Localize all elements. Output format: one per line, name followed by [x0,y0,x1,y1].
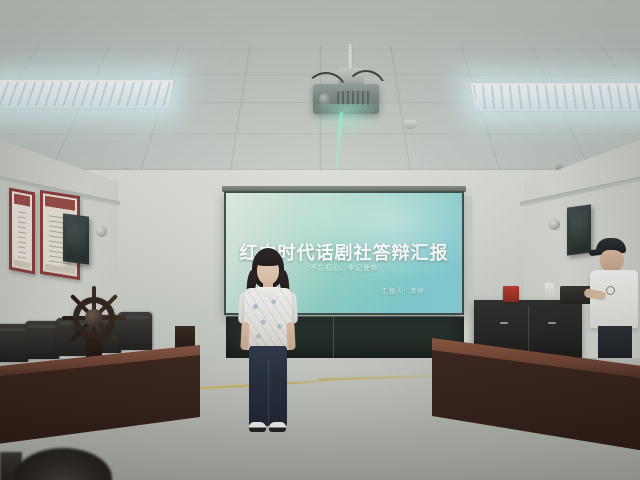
presenter-jeans [249,346,287,426]
presenter-arm-left [240,322,249,350]
chair [25,321,59,359]
side-stand [175,326,195,348]
wall-speaker-left [63,213,89,264]
red-box [503,286,519,302]
cabinet-handle-right[interactable] [548,322,556,324]
ceiling-dome-light-left-icon [96,226,107,237]
presenter-arm-right [286,322,295,350]
ceiling-dome-light-right-icon [549,219,560,230]
presenter-shoe-right [269,422,286,432]
fluorescent-panel-left-icon [0,79,175,109]
technician-shirt-logo-icon [606,286,615,295]
white-cup [545,283,554,299]
wheel-hub [85,309,103,327]
technician-face [600,250,624,272]
presenter-shirt [244,288,292,350]
presenter-bangs [254,253,282,266]
chair [0,324,28,362]
fluorescent-panel-right-icon [469,82,640,112]
smoke-detector-icon [404,120,417,129]
technician [586,238,640,358]
presenter [236,248,300,442]
presenter-shoe-left [249,422,266,432]
poster-1-content [14,193,30,268]
slide-byline: 汇报人：李婷 [382,285,424,295]
framed-poster-1 [9,187,35,274]
ships-wheel-decoration [64,288,124,348]
poster-1-text-lines [18,210,26,259]
technician-trousers [598,326,632,358]
cabinet-handle-left[interactable] [500,322,508,324]
classroom-photo: 红巾时代话剧社答辩汇报 不忘初心、牢记使命 汇报人：李婷 [0,0,640,480]
projector-lens-glow [308,104,384,138]
